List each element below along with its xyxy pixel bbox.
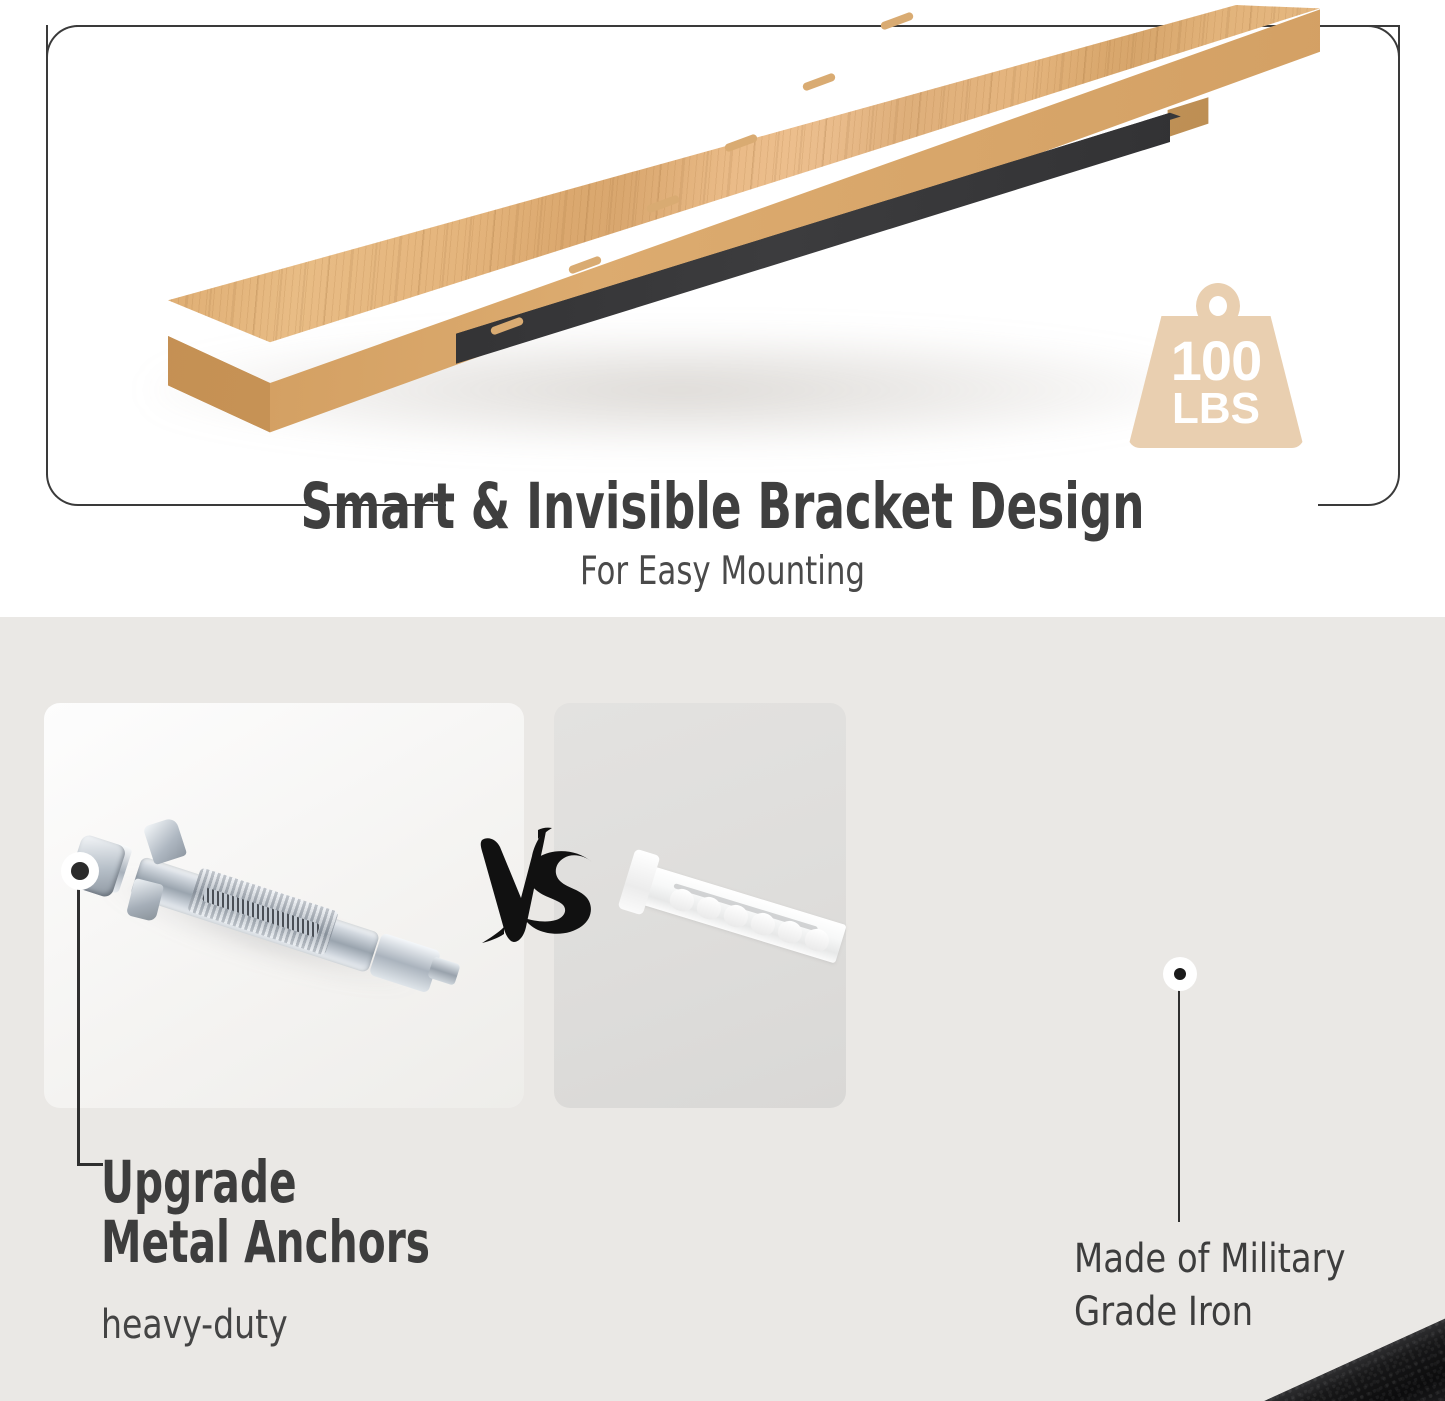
iron-caption-line-1: Made of Military: [1074, 1233, 1346, 1286]
anchor-end-bolt: [427, 956, 460, 986]
versus-icon: [474, 826, 606, 956]
upgrade-title-line-2: Metal Anchors: [101, 1212, 430, 1272]
upgrade-subtitle: heavy-duty: [101, 1302, 288, 1348]
hero-headline: Smart & Invisible Bracket Design: [145, 470, 1301, 543]
bracket-slot: [802, 72, 837, 91]
bracket-slot: [880, 11, 915, 30]
iron-caption-line-2: Grade Iron: [1074, 1286, 1346, 1339]
upgrade-anchors-callout: Upgrade Metal Anchors: [101, 1152, 523, 1273]
rod-leader-line: [1178, 990, 1180, 1222]
frame-bottom-edge-right: [1318, 504, 1340, 506]
anchor-callout-marker: [61, 852, 99, 890]
weight-badge-text: 100 LBS: [1128, 335, 1304, 429]
upgrade-title-line-1: Upgrade: [101, 1152, 430, 1212]
rod-callout-marker: [1163, 957, 1197, 991]
iron-grade-callout: Made of Military Grade Iron: [1074, 1233, 1346, 1339]
weight-value: 100: [1128, 335, 1304, 388]
hero-subheadline: For Easy Mounting: [87, 549, 1359, 594]
anchor-leader-line-vertical: [77, 888, 80, 1166]
hero-section: 100 LBS Smart & Invisible Bracket Design…: [0, 0, 1445, 617]
weight-unit: LBS: [1128, 388, 1304, 429]
anchor-leader-line-horizontal: [77, 1163, 103, 1166]
weight-capacity-badge: 100 LBS: [1128, 283, 1304, 448]
metal-anchor-panel: [44, 703, 524, 1108]
